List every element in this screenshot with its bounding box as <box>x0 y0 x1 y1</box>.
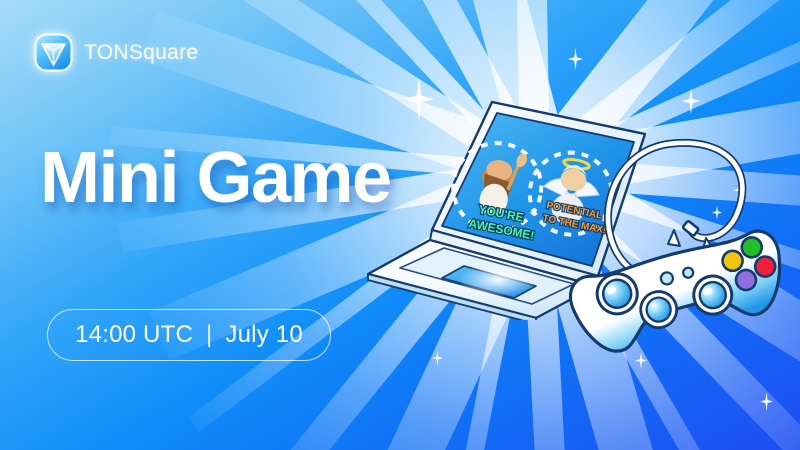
promo-banner: TONSquare Mini Game 14:00 UTC | July 10 <box>0 0 800 450</box>
schedule-badge[interactable]: 14:00 UTC | July 10 <box>47 309 331 361</box>
ton-diamond-logo-icon <box>34 33 73 72</box>
page-title: Mini Game <box>40 137 391 219</box>
brand-logo[interactable]: TONSquare <box>34 33 198 72</box>
brand-name: TONSquare <box>84 41 198 65</box>
schedule-separator: | <box>206 321 212 349</box>
schedule-time: 14:00 UTC <box>75 321 193 349</box>
game-controller-icon <box>560 120 800 360</box>
schedule-date: July 10 <box>225 321 302 349</box>
